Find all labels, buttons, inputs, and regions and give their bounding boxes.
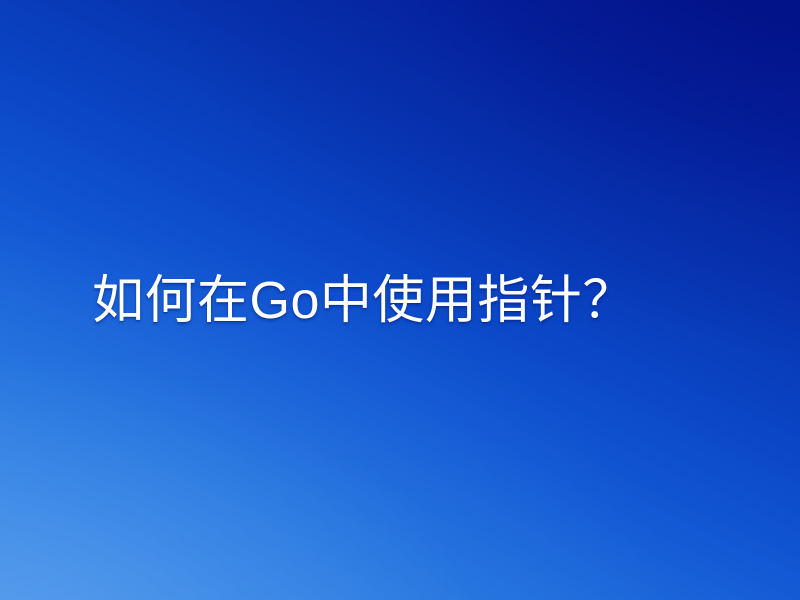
title-card: 如何在Go中使用指针？	[0, 0, 800, 600]
title-layer: 如何在Go中使用指针？	[0, 0, 800, 600]
page-title: 如何在Go中使用指针？	[0, 272, 635, 330]
